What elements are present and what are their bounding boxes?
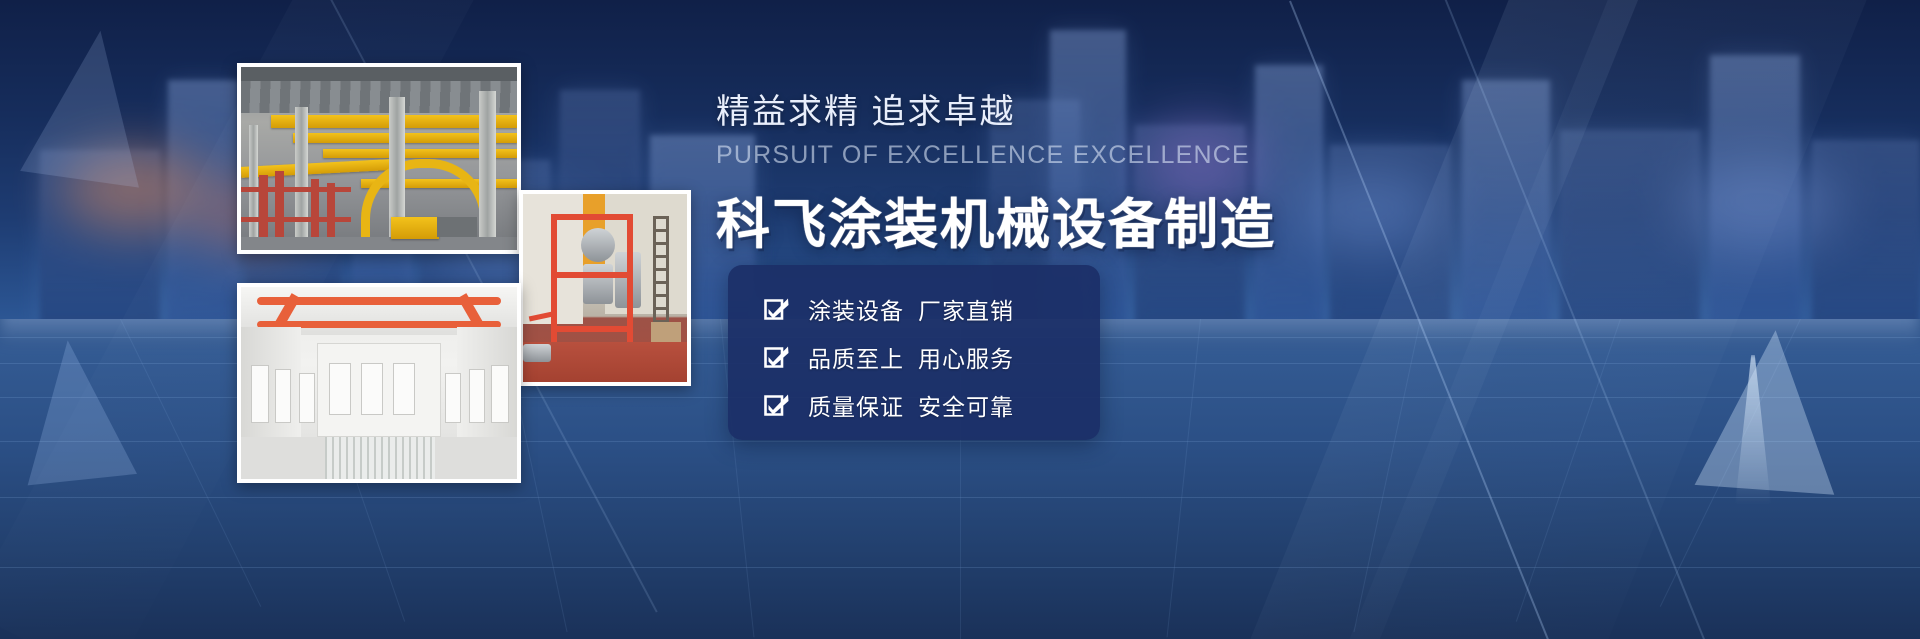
feature-label-2: 品质至上用心服务 [808,340,1014,374]
red-rack-equipment-photo[interactable] [519,190,691,386]
english-subtitle: PURSUIT OF EXCELLENCE EXCELLENCE [716,141,1216,170]
page-title: 科飞涂装机械设备制造 [716,180,1216,259]
feature-label-1: 涂装设备厂家直销 [808,292,1014,326]
feature-list-card: 涂装设备厂家直销 品质至上用心服务 质量保证安全可靠 [728,265,1100,440]
tagline: 精益求精 追求卓越 [716,92,1216,133]
spray-booth-photo[interactable] [237,283,521,483]
factory-conveyor-photo[interactable] [237,63,521,254]
checkbox-checked-icon [764,392,790,418]
feature-label-3: 质量保证安全可靠 [808,388,1014,422]
checkbox-checked-icon [764,296,790,322]
feature-item-1: 涂装设备厂家直销 [728,287,1100,331]
feature-item-2: 品质至上用心服务 [728,335,1100,379]
headline-block: 精益求精 追求卓越 PURSUIT OF EXCELLENCE EXCELLEN… [716,92,1216,259]
checkbox-checked-icon [764,344,790,370]
feature-item-3: 质量保证安全可靠 [728,383,1100,427]
promotional-banner: 精益求精 追求卓越 PURSUIT OF EXCELLENCE EXCELLEN… [0,0,1920,639]
